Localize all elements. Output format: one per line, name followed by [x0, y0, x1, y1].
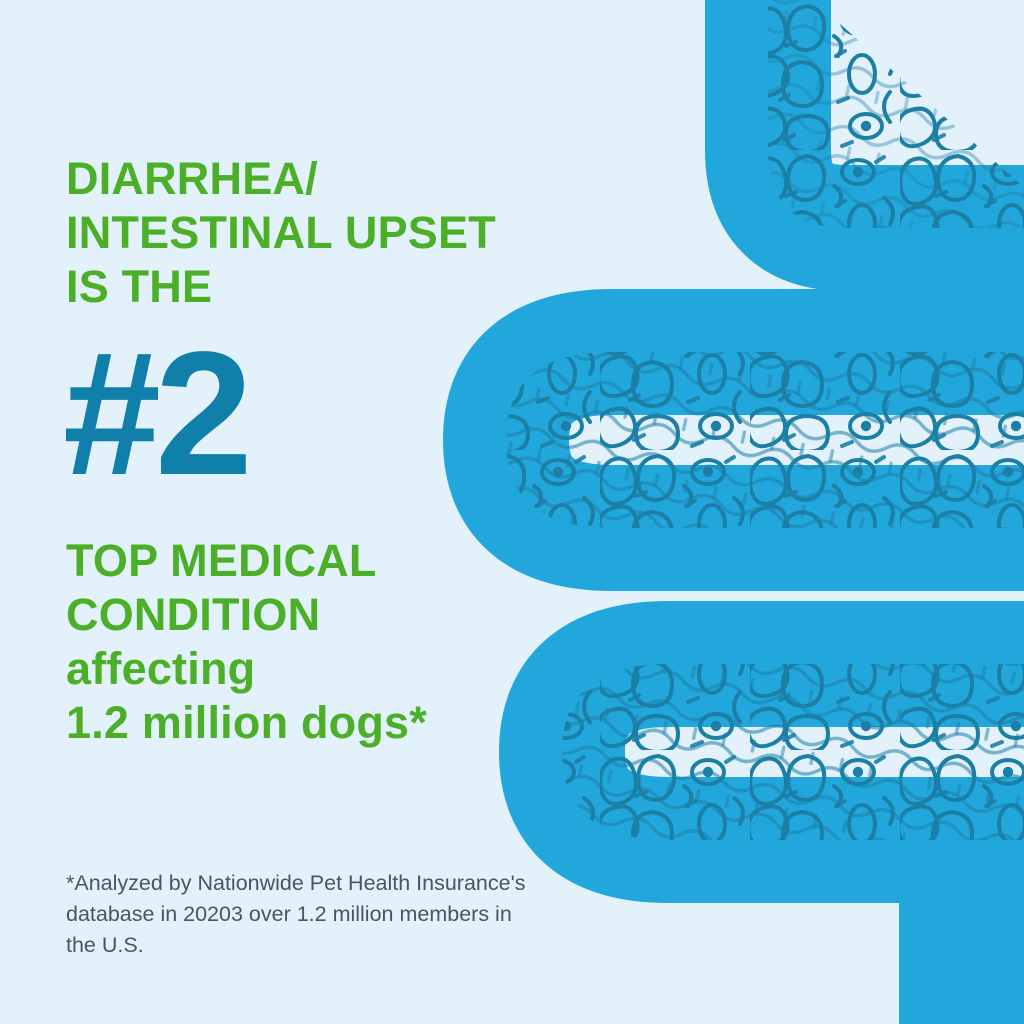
- subheading: TOP MEDICAL CONDITION affecting 1.2 mill…: [66, 534, 536, 750]
- footnote-text: *Analyzed by Nationwide Pet Health Insur…: [66, 868, 546, 961]
- text-column: DIARRHEA/ INTESTINAL UPSET IS THE #2 TOP…: [66, 0, 586, 1024]
- subheading-lowercase: affecting 1.2 million dogs*: [66, 642, 536, 750]
- rank-number: #2: [63, 326, 247, 502]
- subheading-uppercase: TOP MEDICAL CONDITION: [66, 534, 536, 642]
- infographic-poster: DIARRHEA/ INTESTINAL UPSET IS THE #2 TOP…: [0, 0, 1024, 1024]
- page-title: DIARRHEA/ INTESTINAL UPSET IS THE: [66, 152, 546, 314]
